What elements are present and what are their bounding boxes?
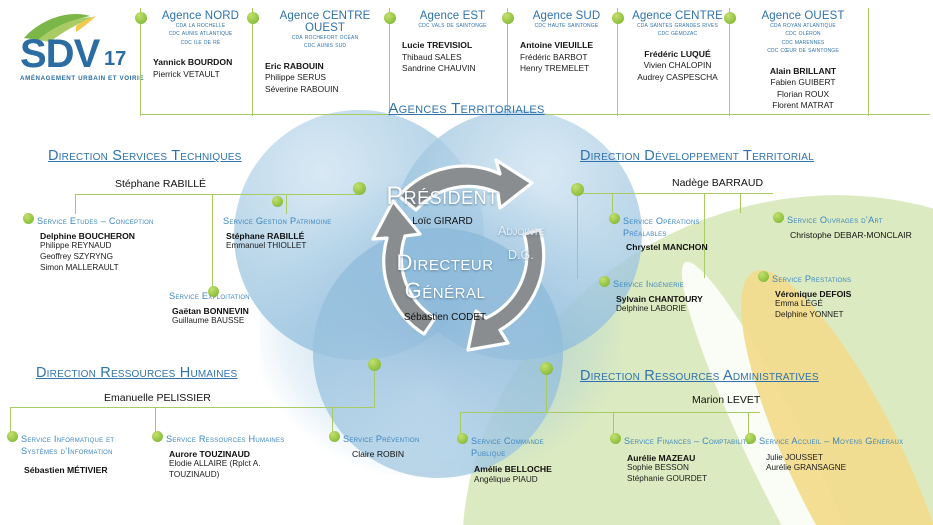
agency-territories: CDA La RochelleCDC Aunis AtlantiqueCDC I… [149, 22, 252, 47]
logo-sdv17: SDV 17 AMÉNAGEMENT URBAIN ET VOIRIE [16, 12, 148, 90]
agency-name: Agence OUEST [738, 10, 868, 22]
service-people: Véronique DEFOIS Emma LÉGÉ Delphine YONN… [763, 289, 888, 321]
connector-st-v3 [286, 194, 287, 214]
service-people: Aurore TOUZINAUD Elodie ALLAIRE (Rplct A… [157, 449, 332, 481]
person: Angélique PIAUD [474, 475, 592, 486]
org-chart-page: SDV 17 AMÉNAGEMENT URBAIN ET VOIRIE Agen… [0, 0, 933, 525]
person-lead: Claire ROBIN [352, 449, 459, 460]
agency-name: Agence CENTRE [626, 10, 729, 22]
agency-territory: CDC Cœur de Saintonge [738, 47, 868, 55]
person: Stéphanie GOURDET [627, 474, 750, 485]
service-node-icon [23, 213, 34, 224]
agency-people: Eric RABOUINPhilippe SERUSSéverine RABOU… [261, 61, 389, 96]
direction-ressources-humaines-title: Direction Ressources Humaines [36, 365, 237, 381]
agency-territories: CDA Royan AtlantiqueCDC OléronCDC Marenn… [738, 22, 868, 56]
agency-node-icon [612, 12, 624, 24]
agency-node-icon [502, 12, 514, 24]
service-exploitation: Service Exploitation Gaëtan BONNEVIN Gui… [160, 291, 300, 327]
direction-services-techniques-head: Stéphane RABILLÉ [115, 178, 206, 190]
person: Sophie BESSON [627, 463, 750, 474]
agency-territory: CDC Gémozac [626, 30, 729, 38]
president-title: Président [350, 182, 535, 211]
agency-person: Vivien CHALOPIN [626, 60, 729, 72]
service-name: Service Finances – Comptabilité [615, 436, 752, 448]
agency-person: Thibaud SALES [402, 52, 507, 64]
service-node-icon [7, 431, 18, 442]
agency-node-icon [724, 12, 736, 24]
service-gestion-patrimoine: Service Gestion Patrimoine Stéphane RABI… [214, 216, 334, 252]
service-people: Amélie BELLOCHE Angélique PIAUD [462, 464, 592, 485]
service-node-icon [272, 196, 283, 207]
connector-dt-v1 [612, 193, 613, 213]
service-node-icon [610, 433, 621, 444]
person: Emmanuel THIOLLET [226, 241, 334, 252]
agency-lead: Alain BRILLANT [738, 66, 868, 78]
service-name: Service Ingénierie [604, 279, 724, 291]
agency-lead: Antoine VIEUILLE [520, 40, 617, 52]
agency-node-icon [384, 12, 396, 24]
service-node-icon [599, 276, 610, 287]
agency-node-icon [247, 12, 259, 24]
service-informatique-si: Service Informatique et Systèmes d’Infor… [12, 434, 152, 476]
service-commande-publique: Service Commande Publique Amélie BELLOCH… [462, 436, 592, 486]
service-node-icon [758, 271, 769, 282]
service-people: Christophe DEBAR-MONCLAIR [778, 230, 928, 241]
connector-rh-v4 [374, 366, 375, 408]
agency-territories: CDA Rochefort OcéanCDC Aunis Sud [261, 34, 389, 51]
service-ressources-humaines: Service Ressources Humaines Aurore TOUZI… [157, 434, 332, 481]
person: Philippe REYNAUD [40, 241, 158, 252]
agency-lead: Frédéric LUQUÉ [626, 49, 729, 61]
person-lead: Delphine BOUCHERON [40, 231, 158, 242]
agency-person: Pierrick VETAULT [153, 69, 252, 81]
agency-people: Lucie TREVISIOLThibaud SALESSandrine CHA… [398, 40, 507, 75]
person-lead: Gaëtan BONNEVIN [172, 306, 300, 317]
service-people: Sylvain CHANTOURY Delphine LABORIE [604, 294, 724, 315]
agency-person: Florian ROUX [738, 89, 868, 101]
service-people: Stéphane RABILLÉ Emmanuel THIOLLET [214, 231, 334, 252]
person-lead: Aurore TOUZINAUD [169, 449, 332, 460]
service-people: Delphine BOUCHERON Philippe REYNAUD Geof… [28, 231, 158, 274]
service-node-icon [773, 212, 784, 223]
service-name: Service Informatique et Systèmes d’Infor… [12, 434, 152, 457]
service-people: Aurélie MAZEAU Sophie BESSON Stéphanie G… [615, 453, 750, 485]
agency-lead: Yannick BOURDON [153, 57, 252, 69]
agency-territory: CDC Marennes [738, 39, 868, 47]
agency-people: Yannick BOURDONPierrick VETAULT [149, 57, 252, 80]
connector-ra-v4 [546, 370, 547, 413]
service-ingenierie: Service Ingénierie Sylvain CHANTOURY Del… [604, 279, 724, 315]
logo-tagline: AMÉNAGEMENT URBAIN ET VOIRIE [20, 75, 144, 82]
agency-territory: CDC Ile de Ré [149, 39, 252, 47]
agency-territories: CDC Vals de Saintonge [398, 22, 507, 30]
service-node-icon [152, 431, 163, 442]
person: Geoffrey SZYRYNG [40, 252, 158, 263]
person-lead: Aurélie MAZEAU [627, 453, 750, 464]
agency-person: Frédéric BARBOT [520, 52, 617, 64]
direction-ressources-administratives-head: Marion LEVET [692, 394, 760, 406]
service-node-icon [609, 213, 620, 224]
logo-number: 17 [104, 48, 126, 71]
service-node-icon [457, 433, 468, 444]
service-prestations: Service Prestations Véronique DEFOIS Emm… [763, 274, 888, 321]
connector-dt-v3 [740, 193, 741, 213]
agency-territory: CDC Vals de Saintonge [398, 22, 507, 30]
person-lead: Chrystel MANCHON [626, 242, 729, 253]
service-ouvrages-dart: Service Ouvrages d’Art Christophe DEBAR-… [778, 215, 928, 240]
connector-st-v1 [75, 194, 76, 214]
adjointe-label: Adjointe [498, 224, 568, 238]
person: Delphine YONNET [775, 310, 888, 321]
director-name: Sébastien CODET [350, 312, 540, 323]
agency-territory: CDA Royan Atlantique [738, 22, 868, 30]
agency-name: Agence NORD [149, 10, 252, 22]
service-finances-comptabilite: Service Finances – Comptabilité Aurélie … [615, 436, 750, 485]
person: Aurélie GRANSAGNE [766, 463, 925, 474]
agency-territory: CDA Rochefort Océan [261, 34, 389, 42]
service-etudes-conception: Service Etudes – Conception Delphine BOU… [28, 216, 158, 273]
service-name: Service Prévention [334, 434, 459, 446]
person: Julie JOUSSET [766, 453, 925, 464]
person-lead: Sébastien MÉTIVIER [24, 465, 152, 476]
dg-label: D.G. [508, 248, 568, 262]
agency-lead: Eric RABOUIN [265, 61, 389, 73]
agency-node-icon [135, 12, 147, 24]
agency-person: Fabien GUIBERT [738, 77, 868, 89]
direction-ressources-humaines-head: Emanuelle PELISSIER [104, 392, 211, 404]
connector-st-horizontal [75, 194, 360, 195]
agency-name: Agence EST [398, 10, 507, 22]
person: Delphine LABORIE [616, 304, 724, 315]
agency-territory: CDA Saintes Grandes Rives [626, 22, 729, 30]
service-people: Gaëtan BONNEVIN Guillaume BAUSSE [160, 306, 300, 327]
service-name: Service Prestations [763, 274, 888, 286]
agency-territory: CDC Aunis Sud [261, 42, 389, 50]
agency-person: Séverine RABOUIN [265, 84, 389, 96]
agency-territory: CDC Aunis Atlantique [149, 30, 252, 38]
agency-territory: CDA La Rochelle [149, 22, 252, 30]
person-lead: Sylvain CHANTOURY [616, 294, 724, 305]
service-people: Sébastien MÉTIVIER [12, 465, 152, 476]
agences-territoriales-title: Agences Territoriales [0, 100, 933, 117]
service-accueil-moyens-generaux: Service Accueil – Moyens Généraux Julie … [750, 436, 925, 474]
connector-rh-horizontal [10, 407, 375, 408]
person-lead: Christophe DEBAR-MONCLAIR [790, 230, 928, 241]
direction-services-techniques-title: Direction Services Techniques [48, 148, 242, 164]
service-people: Chrystel MANCHON [614, 242, 729, 253]
service-name: Service Gestion Patrimoine [214, 216, 334, 228]
agency-person: Philippe SERUS [265, 72, 389, 84]
service-node-icon [745, 433, 756, 444]
logo-text: SDV [20, 34, 99, 74]
agency-territories: CDC Haute Saintonge [516, 22, 617, 30]
service-name: Service Accueil – Moyens Généraux [750, 436, 929, 448]
agency-lead: Lucie TREVISIOL [402, 40, 507, 52]
service-name: Service Ressources Humaines [157, 434, 332, 446]
agency-person: Sandrine CHAUVIN [402, 63, 507, 75]
service-name: Service Ouvrages d’Art [778, 215, 928, 227]
service-prevention: Service Prévention Claire ROBIN [334, 434, 459, 459]
person-lead: Amélie BELLOCHE [474, 464, 592, 475]
agency-name: Agence SUD [516, 10, 617, 22]
agency-person: Henry TREMELET [520, 63, 617, 75]
service-node-icon [208, 286, 219, 297]
service-name: Service Opérations Préalables [614, 216, 729, 239]
person: Guillaume BAUSSE [172, 316, 300, 327]
person-lead: Stéphane RABILLÉ [226, 231, 334, 242]
service-name: Service Exploitation [160, 291, 300, 303]
agency-people: Antoine VIEUILLEFrédéric BARBOTHenry TRE… [516, 40, 617, 75]
person-lead: Véronique DEFOIS [775, 289, 888, 300]
direction-developpement-territorial-title: Direction Développement Territorial [580, 148, 814, 164]
person: Elodie ALLAIRE (Rplct A. TOUZINAUD) [169, 459, 264, 480]
director-title-line2: Général [350, 278, 540, 304]
agency-territory: CDC Oléron [738, 30, 868, 38]
service-node-icon [329, 431, 340, 442]
direction-ressources-administratives-title: Direction Ressources Administratives [580, 368, 819, 384]
agency-name: Agence CENTRE OUEST [261, 10, 389, 34]
person: Emma LÉGÉ [775, 299, 888, 310]
person: Simon MALLERAULT [40, 263, 158, 274]
service-people: Claire ROBIN [334, 449, 459, 460]
service-name: Service Etudes – Conception [28, 216, 158, 228]
service-people: Julie JOUSSET Aurélie GRANSAGNE [750, 453, 925, 474]
agency-territory: CDC Haute Saintonge [516, 22, 617, 30]
direction-developpement-territorial-head: Nadège BARRAUD [672, 177, 763, 189]
connector-dt-horizontal [577, 193, 773, 194]
service-operations-prealables: Service Opérations Préalables Chrystel M… [614, 216, 729, 253]
connector-ra-horizontal [460, 412, 760, 413]
agency-territories: CDA Saintes Grandes RivesCDC Gémozac [626, 22, 729, 39]
agency-person: Audrey CASPESCHA [626, 72, 729, 84]
center-leadership: Président Loïc GIRARD Directeur Général … [350, 140, 580, 368]
agency-people: Frédéric LUQUÉVivien CHALOPINAudrey CASP… [626, 49, 729, 84]
service-name: Service Commande Publique [462, 436, 563, 459]
